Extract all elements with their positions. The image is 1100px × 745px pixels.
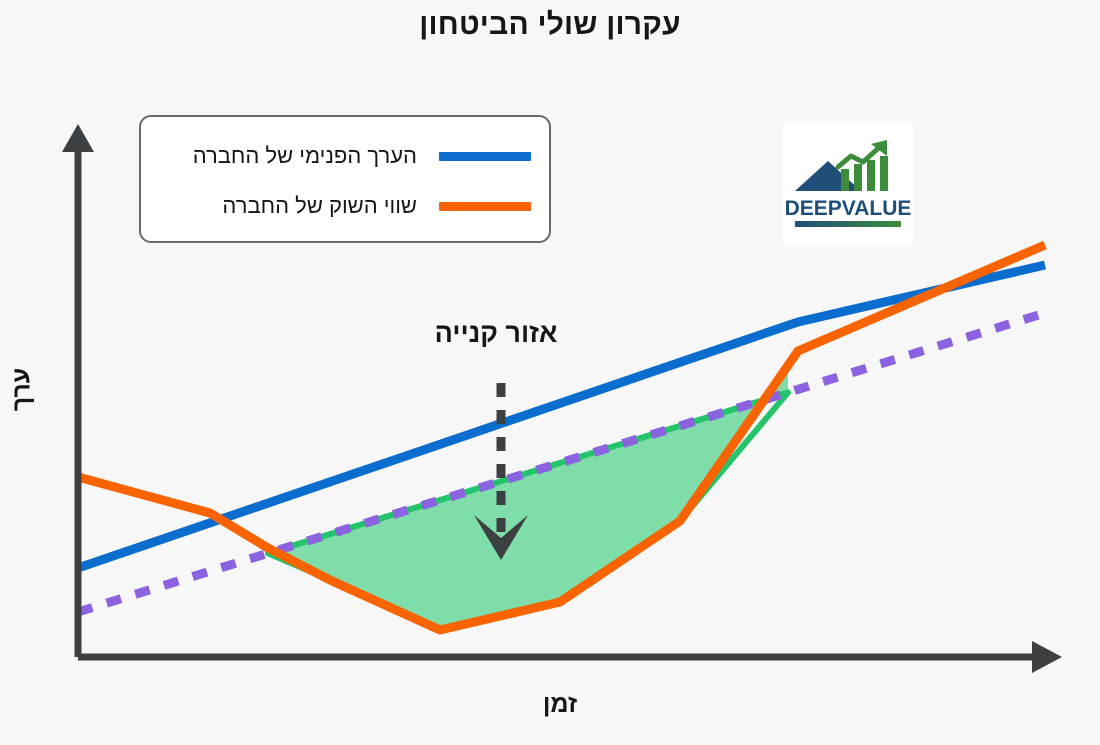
logo-bar-3-icon xyxy=(867,160,875,191)
deepvalue-logo-icon: DEEPVALUE xyxy=(783,123,913,245)
logo-growth-arrow-icon xyxy=(838,145,882,167)
logo-mountain-icon xyxy=(795,161,861,191)
buy-zone-annotation-label: אזור קנייה xyxy=(403,318,589,349)
y-axis-label: ערך xyxy=(8,340,37,440)
logo-bar-1-icon xyxy=(841,169,849,191)
legend-item-market-value: שווי השוק של החברה xyxy=(151,181,531,231)
x-axis-label: זמן xyxy=(470,690,650,719)
logo-wordmark: DEEPVALUE xyxy=(785,197,912,220)
legend-label-intrinsic-value: הערך הפנימי של החברה xyxy=(193,143,417,169)
deepvalue-logo: DEEPVALUE xyxy=(783,123,913,245)
chart-root: עקרון שולי הביטחון הערך הפנימי של ה xyxy=(0,0,1100,745)
chart-legend: הערך הפנימי של החברה שווי השוק של החברה xyxy=(139,115,551,243)
legend-label-market-value: שווי השוק של החברה xyxy=(222,193,417,219)
logo-bar-2-icon xyxy=(854,164,862,191)
legend-swatch-orange-icon xyxy=(439,202,531,211)
legend-item-intrinsic-value: הערך הפנימי של החברה xyxy=(151,131,531,181)
chart-plot-area xyxy=(0,0,1100,745)
x-axis-arrowhead xyxy=(1032,641,1062,673)
legend-swatch-blue-icon xyxy=(439,152,531,161)
y-axis-arrowhead xyxy=(62,124,94,152)
logo-bar-4-icon xyxy=(880,156,888,191)
logo-underline-bar xyxy=(795,221,901,227)
